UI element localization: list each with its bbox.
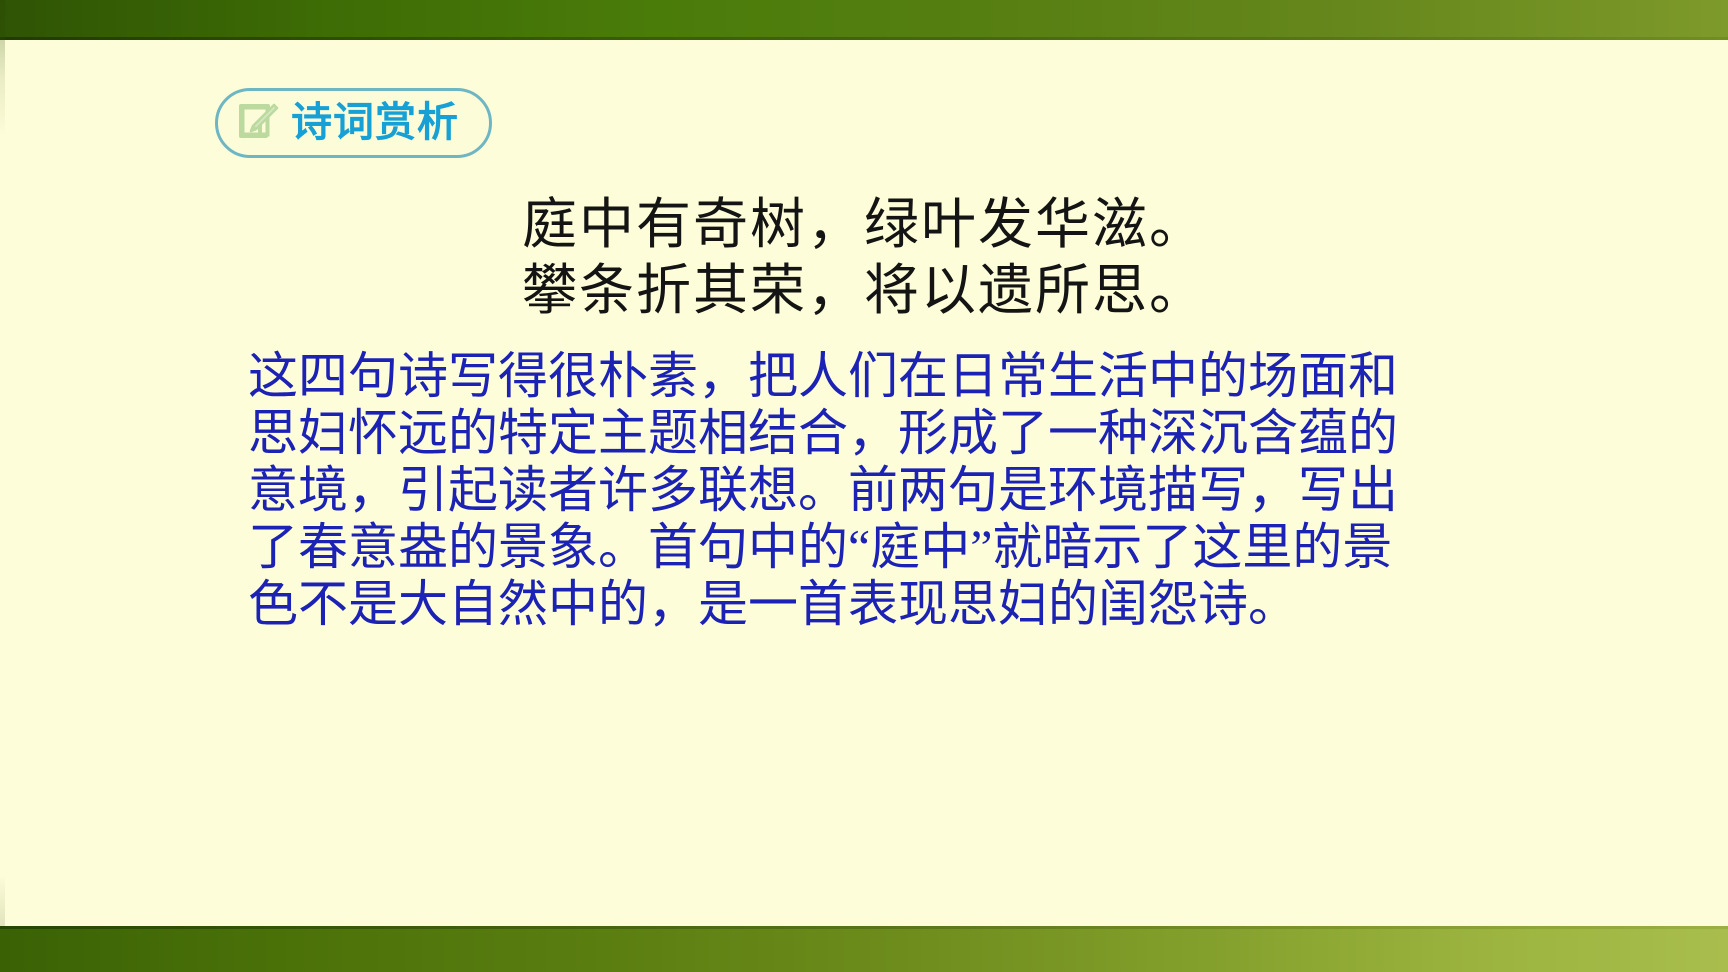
edit-note-icon: [236, 100, 280, 144]
left-edge-shadow: [0, 0, 5, 972]
commentary-line-2: 思妇怀远的特定主题相结合，形成了一种深沉含蕴的: [248, 405, 1323, 462]
bottom-decorative-bar: [0, 926, 1728, 972]
commentary-block: 这四句诗写得很朴素，把人们在日常生活中的场面和 思妇怀远的特定主题相结合，形成了…: [248, 348, 1323, 633]
poem-line-2: 攀条折其荣，将以遗所思。: [0, 258, 1728, 324]
commentary-line-5: 色不是大自然中的，是一首表现思妇的闺怨诗。: [248, 576, 1323, 633]
poem-block: 庭中有奇树，绿叶发华滋。 攀条折其荣，将以遗所思。: [0, 192, 1728, 324]
section-badge[interactable]: 诗词赏析: [215, 88, 492, 158]
commentary-line-1: 这四句诗写得很朴素，把人们在日常生活中的场面和: [248, 348, 1323, 405]
poem-line-1: 庭中有奇树，绿叶发华滋。: [0, 192, 1728, 258]
commentary-line-3: 意境，引起读者许多联想。前两句是环境描写，写出: [248, 462, 1323, 519]
section-badge-label: 诗词赏析: [291, 102, 459, 143]
commentary-line-4: 了春意盎的景象。首句中的“庭中”就暗示了这里的景: [248, 519, 1323, 576]
slide-root: 诗词赏析 庭中有奇树，绿叶发华滋。 攀条折其荣，将以遗所思。 这四句诗写得很朴素…: [0, 0, 1728, 972]
top-decorative-bar: [0, 0, 1728, 40]
